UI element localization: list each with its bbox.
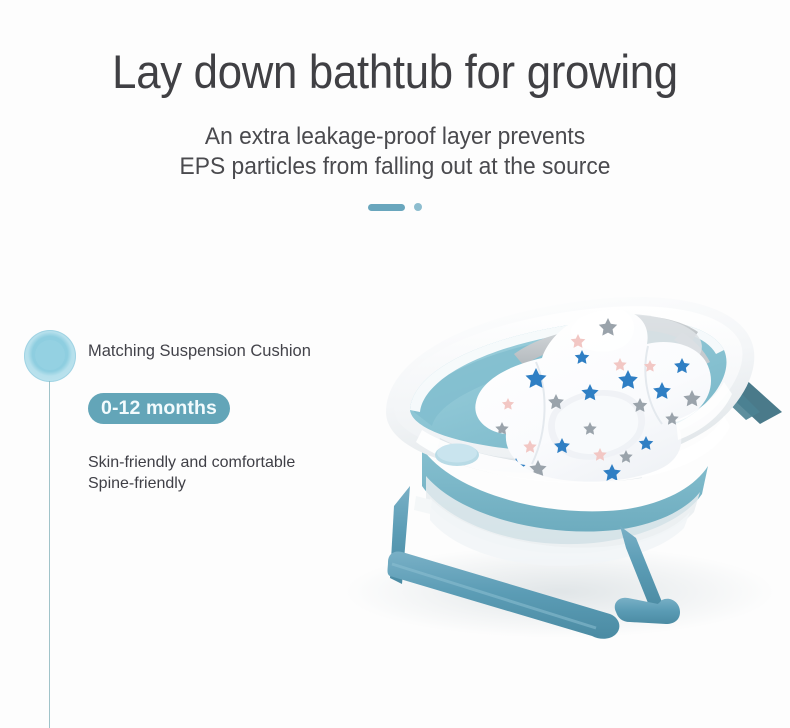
product-feature-slide: Lay down bathtub for growing An extra le… — [0, 0, 790, 728]
callout-description: Skin-friendly and comfortable Spine-frie… — [88, 452, 295, 494]
slide-indicator[interactable] — [0, 203, 790, 211]
callout-description-line-1: Skin-friendly and comfortable — [88, 452, 295, 473]
slide-indicator-active-dash[interactable] — [368, 204, 405, 211]
callout-bullet-icon — [24, 330, 76, 382]
subtitle-line-1: An extra leakage-proof layer prevents — [20, 122, 771, 152]
age-range-badge: 0-12 months — [88, 393, 230, 424]
callout-description-line-2: Spine-friendly — [88, 473, 295, 494]
page-title: Lay down bathtub for growing — [28, 44, 763, 100]
subtitle-line-2: EPS particles from falling out at the so… — [20, 152, 771, 182]
slide-indicator-dot[interactable] — [414, 203, 422, 211]
callout-connector-line — [49, 381, 50, 728]
callout-title: Matching Suspension Cushion — [88, 340, 311, 362]
page-subtitle: An extra leakage-proof layer prevents EP… — [20, 122, 771, 182]
product-image-bathtub — [290, 262, 790, 662]
